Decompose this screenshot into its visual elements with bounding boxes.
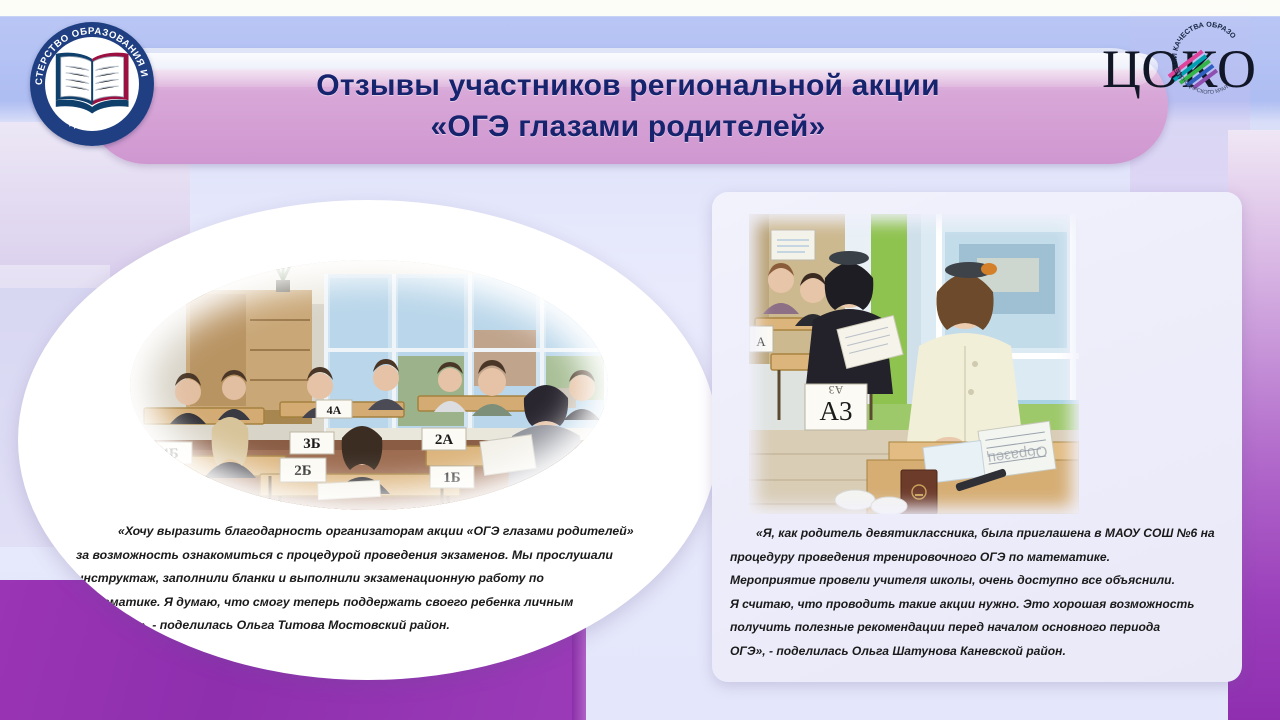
right-quote-line-5: получить полезные рекомендации перед нач… (730, 620, 1160, 634)
svg-text:2А: 2А (435, 432, 454, 448)
svg-text:4А: 4А (327, 403, 342, 417)
right-quote-line-1: «Я, как родитель девятиклассника, была п… (756, 526, 1215, 540)
svg-text:А: А (756, 334, 766, 349)
left-quote-line-1: «Хочу выразить благодарность организатор… (118, 524, 634, 538)
svg-text:2Б: 2Б (294, 463, 312, 479)
right-quote-line-3: Мероприятие провели учителя школы, очень… (730, 573, 1175, 587)
slide-header: Отзывы участников региональной акции «ОГ… (0, 0, 1280, 180)
left-quote-line-3: инструктаж, заполнили бланки и выполнили… (76, 571, 544, 585)
right-testimonial-text: «Я, как родитель девятиклассника, была п… (730, 522, 1235, 663)
svg-text:3Б: 3Б (303, 436, 321, 452)
left-testimonial-card: 4Б 2Б 3Б 4А 2А 1Б «Хочу выразить благода… (18, 200, 718, 680)
left-quote-line-4: математике. Я думаю, что смогу теперь по… (76, 595, 573, 609)
left-classroom-photo: 4Б 2Б 3Б 4А 2А 1Б (130, 260, 608, 510)
right-quote-line-2: процедуру проведения тренировочного ОГЭ … (730, 550, 1110, 564)
open-book-icon (50, 49, 134, 118)
right-classroom-photo: Образец А3 А3 А (749, 214, 1079, 514)
left-quote-line-5: примером», - поделилась Ольга Титова Мос… (76, 618, 450, 632)
ministry-emblem-icon: МИНИСТЕРСТВО ОБРАЗОВАНИЯ И НАУКИ КРАСНОД… (30, 22, 154, 146)
left-testimonial-text: «Хочу выразить благодарность организатор… (76, 520, 676, 638)
title-line-1: Отзывы участников региональной акции (316, 65, 939, 106)
right-quote-line-6: ОГЭ», - поделилась Ольга Шатунова Каневс… (730, 644, 1066, 658)
title-line-2: «ОГЭ глазами родителей» (431, 106, 826, 147)
right-testimonial-card: Образец А3 А3 А (712, 192, 1242, 682)
right-quote-line-4: Я считаю, что проводить такие акции нужн… (730, 597, 1194, 611)
title-banner: Отзывы участников региональной акции «ОГ… (88, 48, 1168, 164)
svg-text:1Б: 1Б (443, 470, 461, 486)
page-title: Отзывы участников региональной акции «ОГ… (88, 48, 1168, 164)
coko-emblem-icon: ЦЕНТР ОЦЕНКИ КАЧЕСТВА ОБРАЗОВАНИЯ КРАСНО… (1154, 6, 1250, 102)
left-quote-line-2: за возможность ознакомиться с процедурой… (76, 548, 613, 562)
svg-text:А3: А3 (820, 396, 853, 426)
svg-text:А3: А3 (829, 383, 844, 397)
coko-logo: ЦОКО ЦЕНТР ОЦЕНКИ КАЧЕСТВА ОБРАЗОВАНИЯ (1102, 6, 1278, 114)
svg-text:4Б: 4Б (161, 446, 179, 462)
